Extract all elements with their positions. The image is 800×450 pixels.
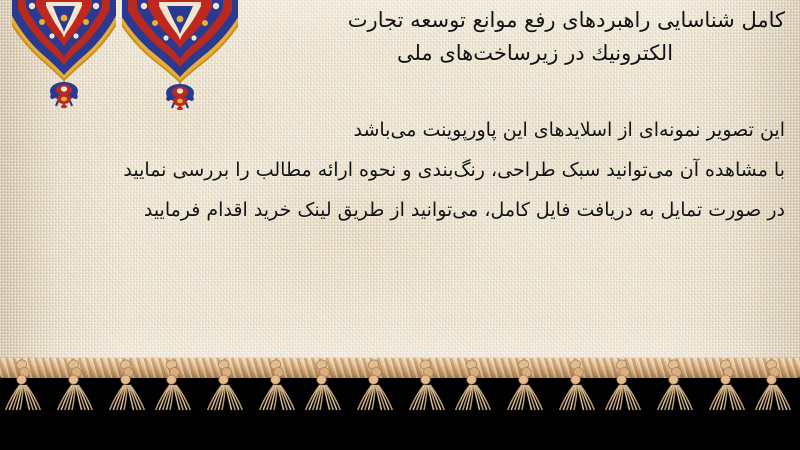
carpet-tassel [110,358,145,410]
carpet-tassel [306,358,341,410]
carpet-tassel [6,358,41,410]
body-line-3: در صورت تمایل به دریافت فایل کامل، می‌تو… [15,190,785,230]
carpet-medallion-icon [12,0,116,108]
presentation-slide: کامل شناسایی راهبردهای رفع موانع توسعه ت… [0,0,800,450]
carpet-tassel [710,358,745,410]
body-line-2: با مشاهده آن می‌توانید سبک طراحی، رنگ‌بن… [15,150,785,190]
carpet-tassel [560,358,595,410]
carpet-tassel-layer [0,358,800,450]
carpet-tassel [156,358,191,410]
slide-title-line-2: الکترونیك در زیرساخت‌های ملی [225,37,785,70]
carpet-tassel [508,358,543,410]
carpet-tassel [208,358,243,410]
carpet-tassel [260,358,295,410]
carpet-tassel [58,358,93,410]
carpet-tassel [756,358,791,410]
carpet-tassel [358,358,393,410]
carpet-tassel [658,358,693,410]
slide-title-line-1: کامل شناسایی راهبردهای رفع موانع توسعه ت… [348,8,785,32]
carpet-medallion-icon-2 [122,0,238,110]
carpet-tassel [410,358,445,410]
slide-title: کامل شناسایی راهبردهای رفع موانع توسعه ت… [225,4,785,70]
slide-body: این تصویر نمونه‌ای از اسلایدهای این پاور… [15,110,785,230]
carpet-tassel [606,358,641,410]
body-line-1: این تصویر نمونه‌ای از اسلایدهای این پاور… [15,110,785,150]
carpet-tassel [456,358,491,410]
